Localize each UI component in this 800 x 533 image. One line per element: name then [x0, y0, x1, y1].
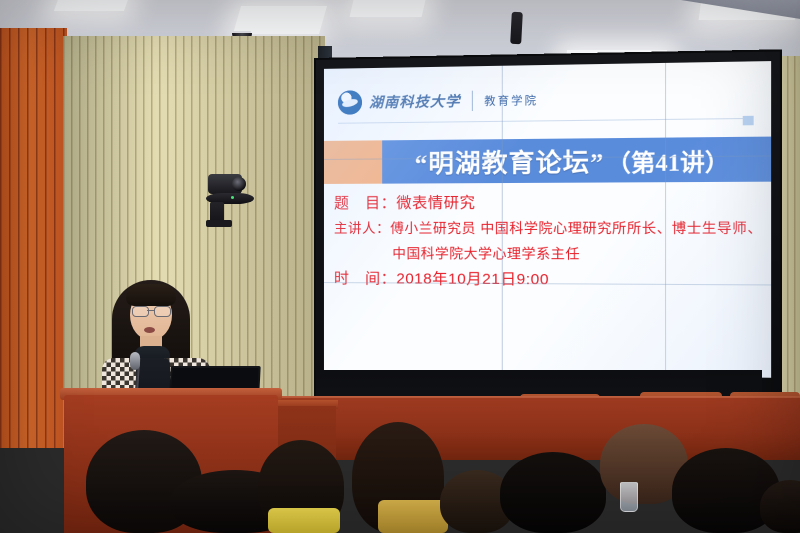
- presentation-slide: 湖南科技大学 教育学院 “明湖教育论坛” （第41讲） 题 目：微表情研究 主讲…: [324, 61, 771, 378]
- slide-title-blue-block: “明湖教育论坛” （第41讲）: [382, 137, 771, 184]
- presenter-fringe: [126, 284, 176, 306]
- university-wave-logo-icon: [338, 90, 362, 114]
- school-name: 教育学院: [484, 92, 538, 109]
- slide-body-line-speaker-cont: 中国科学院大学心理学系主任: [334, 241, 762, 268]
- slide-header-rule: [338, 118, 752, 124]
- ptz-camera-lens: [232, 177, 246, 191]
- glasses-lens-left: [132, 306, 149, 317]
- slide-body-line-speaker: 主讲人：傅小兰研究员 中国科学院心理研究所所长、博士生导师、: [334, 215, 762, 241]
- wall-panel-orange: [0, 28, 67, 448]
- slide-logo: 湖南科技大学 教育学院: [338, 88, 538, 115]
- glasses-lens-right: [154, 306, 171, 317]
- ceiling-speaker-icon: [510, 12, 523, 45]
- ceiling-light-panel: [54, 0, 130, 11]
- slide-title-band: “明湖教育论坛” （第41讲）: [324, 137, 771, 184]
- ptz-camera-led: [231, 196, 234, 199]
- audience-person: [500, 452, 606, 533]
- slide-decoration-square: [743, 116, 754, 126]
- microphone-head-icon: [130, 352, 140, 370]
- audience-person-clothing: [378, 500, 448, 533]
- slide-title: “明湖教育论坛”: [415, 142, 605, 180]
- audience-person-clothing: [268, 508, 340, 533]
- ceiling-light-panel: [350, 0, 427, 17]
- ceiling-light-panel: [233, 6, 327, 34]
- glasses-bridge: [147, 310, 154, 311]
- water-glass: [620, 482, 638, 512]
- slide-body-line-topic: 题 目：微表情研究: [334, 189, 762, 216]
- ptz-camera-mount-plate: [206, 220, 232, 227]
- slide-body-line-time: 时 间：2018年10月21日9:00: [334, 266, 762, 294]
- slide-body: 题 目：微表情研究 主讲人：傅小兰研究员 中国科学院心理研究所所长、博士生导师、…: [334, 189, 762, 294]
- slide-session-number: （第41讲）: [606, 142, 729, 178]
- laptop-screen: [171, 368, 258, 390]
- slide-title-orange-block: [324, 140, 382, 184]
- lecture-hall-photo: 湖南科技大学 教育学院 “明湖教育论坛” （第41讲） 题 目：微表情研究 主讲…: [0, 0, 800, 533]
- ptz-camera-icon: [206, 174, 254, 222]
- presentation-screen: 湖南科技大学 教育学院 “明湖教育论坛” （第41讲） 题 目：微表情研究 主讲…: [324, 61, 771, 378]
- logo-divider: [472, 91, 473, 111]
- presenter-mouth: [144, 327, 155, 333]
- university-name: 湖南科技大学: [369, 91, 460, 112]
- video-wall-bezel: 湖南科技大学 教育学院 “明湖教育论坛” （第41讲） 题 目：微表情研究 主讲…: [316, 51, 780, 412]
- presenter-glasses-icon: [132, 306, 170, 315]
